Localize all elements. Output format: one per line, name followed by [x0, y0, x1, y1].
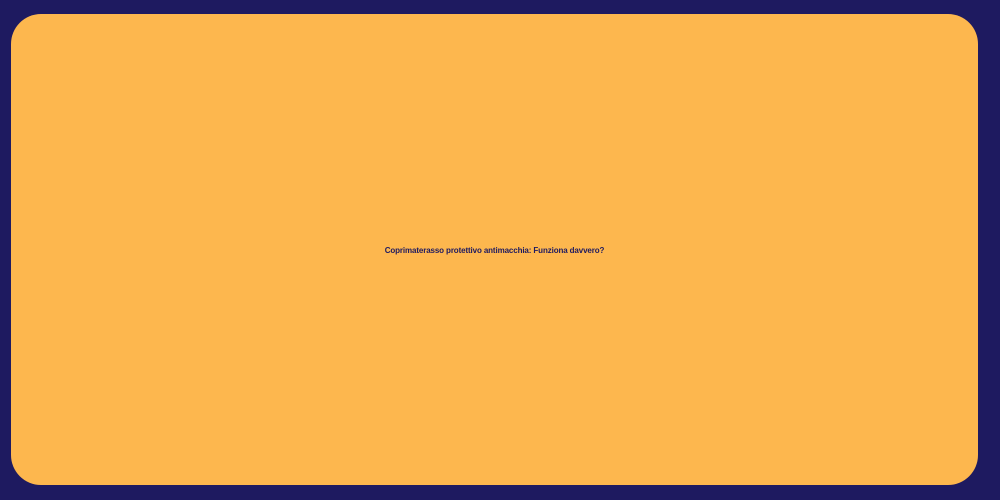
banner-headline: Coprimaterasso protettivo antimacchia: F…: [11, 246, 978, 255]
banner-root: Coprimaterasso protettivo antimacchia: F…: [0, 0, 1000, 500]
banner-card-panel: Coprimaterasso protettivo antimacchia: F…: [11, 14, 978, 485]
